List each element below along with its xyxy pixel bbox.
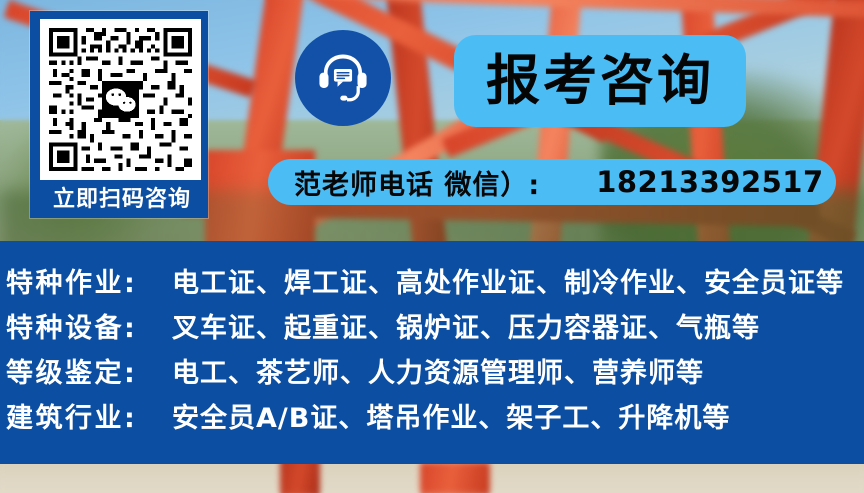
category-row: 等级鉴定: 电工、茶艺师、人力资源管理师、营养师等 [0,348,864,393]
category-items: 电工证、焊工证、高处作业证、制冷作业、安全员证等 [172,261,844,300]
qr-card[interactable]: 立即扫码咨询 [30,11,208,218]
qr-caption-label: 立即扫码咨询 [33,182,211,218]
category-label: 建筑行业: [6,396,156,435]
contact-phone-pill[interactable]: 范老师电话 微信）: 18213392517 [268,159,836,205]
category-items: 电工、茶艺师、人力资源管理师、营养师等 [172,351,704,390]
category-label: 特种设备: [6,306,156,345]
category-label: 特种作业: [6,261,156,300]
qr-code-icon [45,24,196,175]
headset-support-icon [314,49,372,107]
consult-badge[interactable]: 报考咨询 [454,35,746,127]
category-row: 建筑行业: 安全员A/B证、塔吊作业、架子工、升降机等 [0,393,864,438]
category-row: 特种设备: 叉车证、起重证、锅炉证、压力容器证、气瓶等 [0,303,864,348]
consult-badge-label: 报考咨询 [486,54,714,108]
category-items: 叉车证、起重证、锅炉证、压力容器证、气瓶等 [172,306,760,345]
certification-category-panel: 特种作业: 电工证、焊工证、高处作业证、制冷作业、安全员证等 特种设备: 叉车证… [0,241,864,464]
category-items: 安全员A/B证、塔吊作业、架子工、升降机等 [172,396,730,435]
wechat-qr-code[interactable] [40,19,201,180]
category-label: 等级鉴定: [6,351,156,390]
headset-support-badge[interactable] [295,30,391,126]
category-row: 特种作业: 电工证、焊工证、高处作业证、制冷作业、安全员证等 [0,258,864,303]
contact-phone-number[interactable]: 18213392517 [596,165,823,199]
contact-phone-label: 范老师电话 微信）: [294,163,540,202]
